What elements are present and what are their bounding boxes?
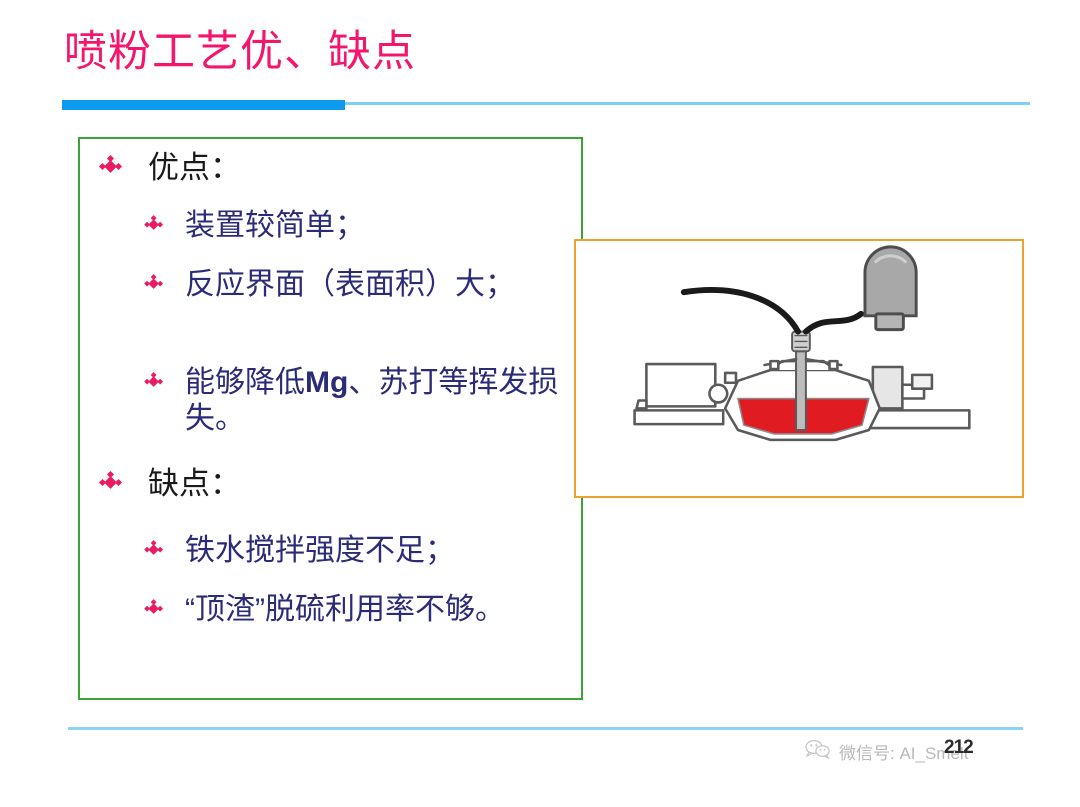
diamond-bullet-icon (145, 275, 160, 290)
list-item-disadvantages-heading: 缺点： (100, 466, 241, 503)
list-item-advantages-heading: 优点： (100, 150, 241, 187)
bullet-label: 优点： (148, 150, 241, 187)
page-title: 喷粉工艺优、缺点 (64, 26, 416, 80)
wechat-icon (805, 739, 831, 764)
title-accent-bar (62, 100, 345, 110)
list-item-advantage-3: 能够降低Mg、苏打等挥发损失。 (145, 365, 560, 437)
list-item-disadvantage-2: “顶渣”脱硫利用率不够。 (145, 592, 565, 628)
diamond-bullet-icon (145, 541, 160, 556)
diamond-bullet-icon (145, 600, 160, 615)
bullet-label: “顶渣”脱硫利用率不够。 (185, 592, 505, 628)
hose-right (806, 314, 861, 332)
figure-frame (574, 239, 1024, 498)
bullet-label: 能够降低Mg、苏打等挥发损失。 (185, 365, 560, 437)
bullet-label: 铁水搅拌强度不足； (185, 533, 455, 569)
powder-dispenser (865, 247, 916, 330)
list-item-disadvantage-1: 铁水搅拌强度不足； (145, 533, 565, 569)
bullet-label: 缺点： (148, 466, 241, 503)
bullet-label: 反应界面（表面积）大； (185, 267, 515, 303)
bullet-label-part-1: 能够降低 (185, 366, 305, 399)
footer-rule (68, 727, 1023, 730)
torpedo-ladle-injection-diagram (576, 241, 1022, 496)
diamond-bullet-icon (100, 472, 122, 494)
bullet-label-emphasis: Mg (305, 366, 348, 399)
diamond-bullet-icon (100, 156, 122, 178)
list-item-advantage-1: 装置较简单； (145, 208, 565, 244)
bullet-label: 装置较简单； (185, 208, 365, 244)
page-number: 212 (944, 737, 973, 759)
title-thin-rule (345, 102, 1030, 105)
diamond-bullet-icon (145, 373, 160, 388)
diamond-bullet-icon (145, 216, 160, 231)
list-item-advantage-2: 反应界面（表面积）大； (145, 267, 555, 303)
hose-left (684, 290, 798, 332)
